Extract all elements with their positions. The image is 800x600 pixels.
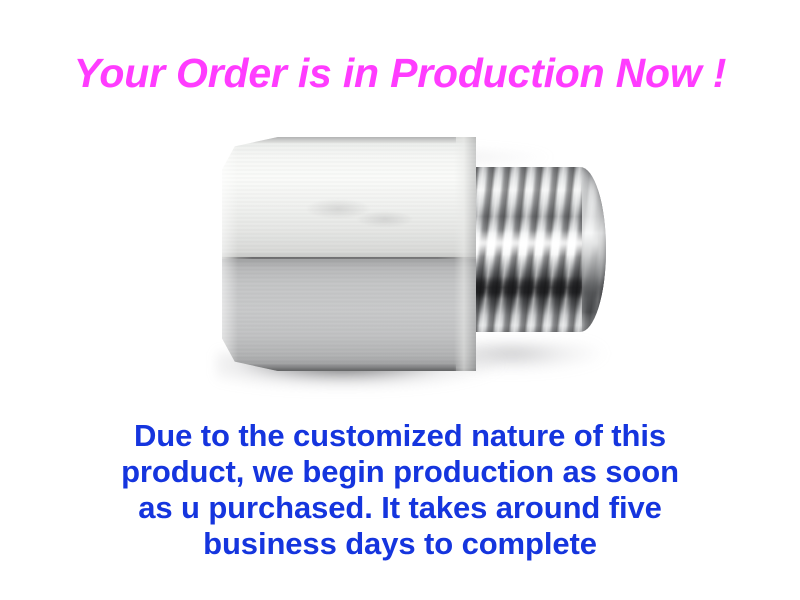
page-title: Your Order is in Production Now ! bbox=[0, 50, 800, 97]
hex-shoulder bbox=[454, 137, 476, 371]
hex-surface-scuffs bbox=[303, 188, 420, 239]
product-photo bbox=[200, 115, 640, 415]
notice-line-1: Due to the customized nature of this bbox=[0, 418, 800, 454]
photo-thread-shadow bbox=[450, 343, 625, 377]
hex-brushed-texture bbox=[222, 137, 476, 371]
promo-image-canvas: Your Order is in Production Now ! bbox=[0, 0, 800, 600]
hex-left-bevel bbox=[222, 137, 238, 371]
notice-line-3: as u purchased. It takes around five bbox=[0, 490, 800, 526]
notice-line-4: business days to complete bbox=[0, 526, 800, 562]
hex-body bbox=[222, 137, 476, 371]
notice-line-2: product, we begin production as soon bbox=[0, 454, 800, 490]
production-notice: Due to the customized nature of this pro… bbox=[0, 418, 800, 562]
